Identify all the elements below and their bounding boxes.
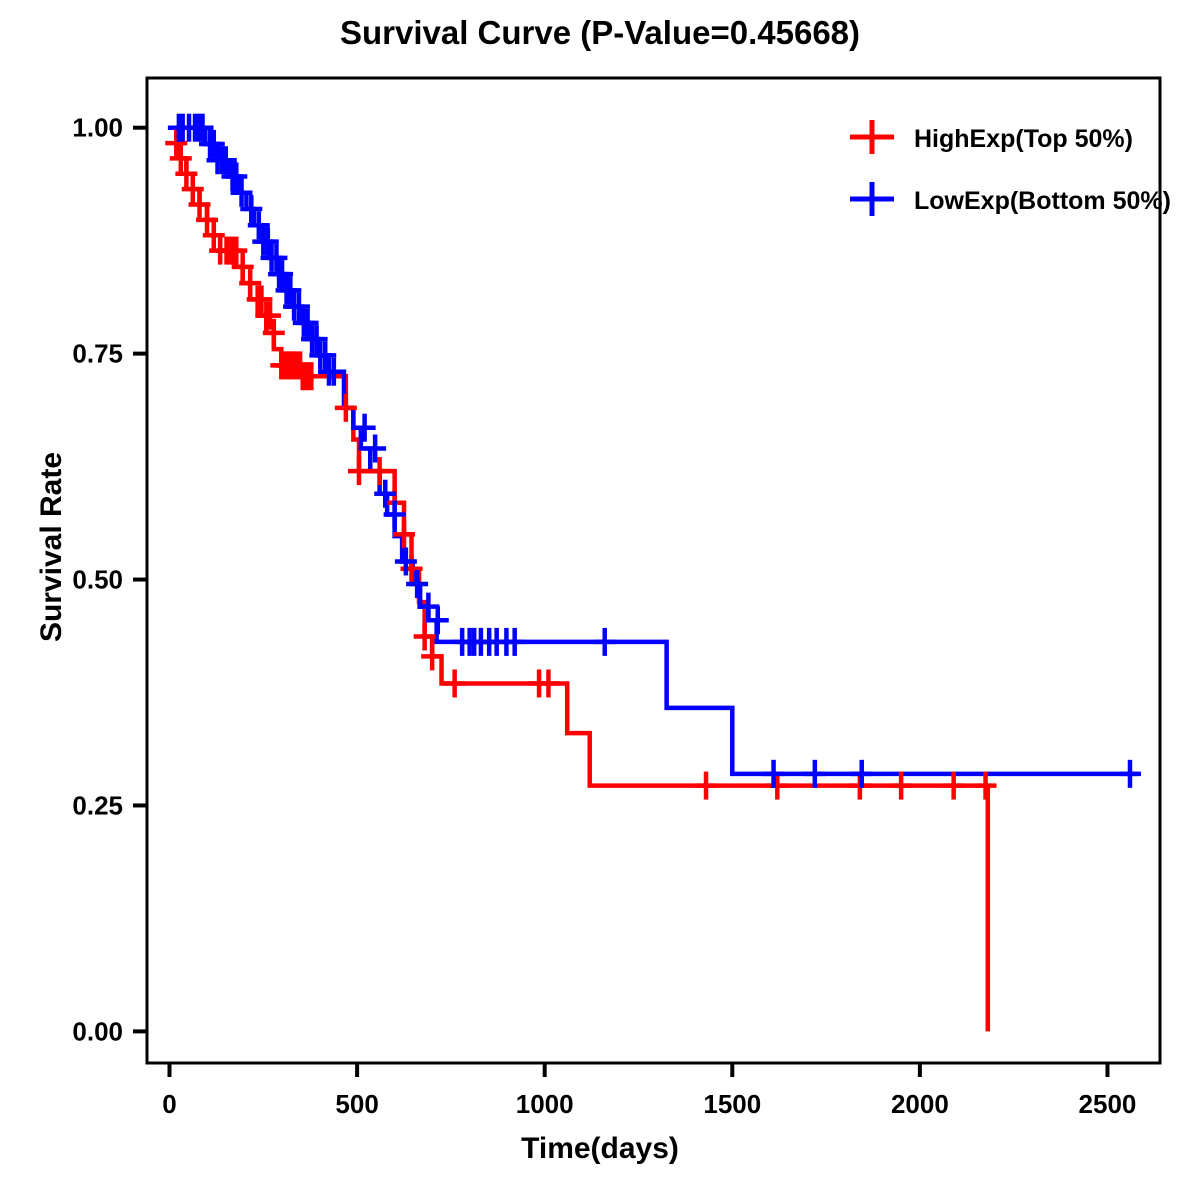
x-tick-label: 2500: [1079, 1089, 1137, 1119]
censor-mark: [348, 457, 370, 485]
survival-curve-figure: Survival Curve (P-Value=0.45668) Surviva…: [0, 0, 1200, 1200]
legend-item-highexp[interactable]: HighExp(Top 50%): [850, 120, 1133, 154]
y-tick-label: 0.75: [72, 339, 123, 369]
legend: HighExp(Top 50%)LowExp(Bottom 50%): [850, 120, 1171, 216]
x-tick-label: 1500: [703, 1089, 761, 1119]
x-tick-label: 0: [162, 1089, 176, 1119]
censor-mark: [364, 435, 386, 463]
survival-step-line-highexp: [170, 128, 988, 1032]
y-tick-label: 0.00: [72, 1016, 123, 1046]
x-tick-label: 500: [335, 1089, 378, 1119]
y-tick-label: 1.00: [72, 113, 123, 143]
legend-label: HighExp(Top 50%): [914, 125, 1133, 153]
plot-area: 050010001500200025000.000.250.500.751.00…: [0, 0, 1200, 1200]
y-tick-label: 0.50: [72, 565, 123, 595]
data-series-layer: [170, 128, 1138, 1032]
survival-step-line-lowexp: [170, 128, 1138, 774]
censor-mark: [444, 669, 466, 697]
legend-label: LowExp(Bottom 50%): [914, 187, 1171, 215]
y-tick-label: 0.25: [72, 790, 123, 820]
legend-item-lowexp[interactable]: LowExp(Bottom 50%): [850, 182, 1171, 216]
x-tick-label: 2000: [891, 1089, 949, 1119]
censor-marks-layer: [165, 114, 1141, 800]
censor-mark: [1119, 760, 1141, 788]
censor-mark: [594, 628, 616, 656]
x-tick-label: 1000: [516, 1089, 574, 1119]
axes: 050010001500200025000.000.250.500.751.00: [72, 78, 1160, 1119]
censor-mark: [695, 772, 717, 800]
plot-frame: [147, 78, 1160, 1063]
